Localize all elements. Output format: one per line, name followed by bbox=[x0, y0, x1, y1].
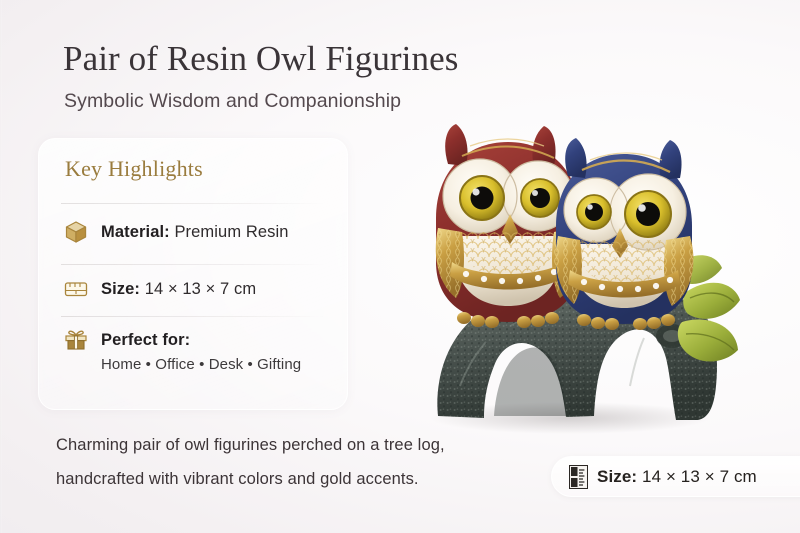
highlight-item-size: Size: 14 × 13 × 7 cm bbox=[63, 276, 256, 302]
divider bbox=[61, 316, 325, 317]
size-badge-value: 14 × 13 × 7 cm bbox=[642, 467, 757, 486]
cube-icon bbox=[63, 219, 89, 245]
highlight-label: Material: bbox=[101, 223, 170, 241]
ruler-icon bbox=[63, 276, 89, 302]
highlight-item-material: Material: Premium Resin bbox=[63, 219, 289, 245]
page-title: Pair of Resin Owl Figurines bbox=[63, 38, 458, 80]
page-subtitle: Symbolic Wisdom and Companionship bbox=[64, 88, 401, 114]
highlight-item-perfect-for: Perfect for: Home • Office • Desk • Gift… bbox=[63, 327, 301, 376]
description-line-2: handcrafted with vibrant colors and gold… bbox=[56, 462, 486, 496]
product-image bbox=[390, 86, 750, 446]
size-badge-text: Size: 14 × 13 × 7 cm bbox=[597, 467, 757, 487]
highlight-sublist: Home • Office • Desk • Gifting bbox=[101, 354, 301, 376]
card-title: Key Highlights bbox=[65, 155, 203, 183]
description-line-1: Charming pair of owl figurines perched o… bbox=[56, 428, 486, 462]
divider bbox=[61, 264, 325, 265]
highlight-value: Premium Resin bbox=[174, 223, 288, 241]
size-badge: Size: 14 × 13 × 7 cm bbox=[551, 456, 800, 497]
highlight-label: Size: bbox=[101, 280, 140, 298]
divider bbox=[61, 203, 325, 204]
size-badge-label: Size: bbox=[597, 467, 637, 486]
key-highlights-card: Key Highlights Material: Premium Resin bbox=[38, 138, 348, 410]
highlight-label: Perfect for: bbox=[101, 331, 190, 349]
ruler-scale-icon bbox=[569, 465, 588, 489]
highlight-value: 14 × 13 × 7 cm bbox=[145, 280, 256, 298]
highlight-text: Size: 14 × 13 × 7 cm bbox=[101, 276, 256, 302]
product-description: Charming pair of owl figurines perched o… bbox=[56, 428, 486, 496]
gift-icon bbox=[63, 327, 89, 353]
highlight-text: Material: Premium Resin bbox=[101, 219, 289, 245]
highlight-text: Perfect for: Home • Office • Desk • Gift… bbox=[101, 327, 301, 376]
product-showcase: Pair of Resin Owl Figurines Symbolic Wis… bbox=[0, 0, 800, 533]
owl-figurine-right bbox=[556, 138, 694, 330]
